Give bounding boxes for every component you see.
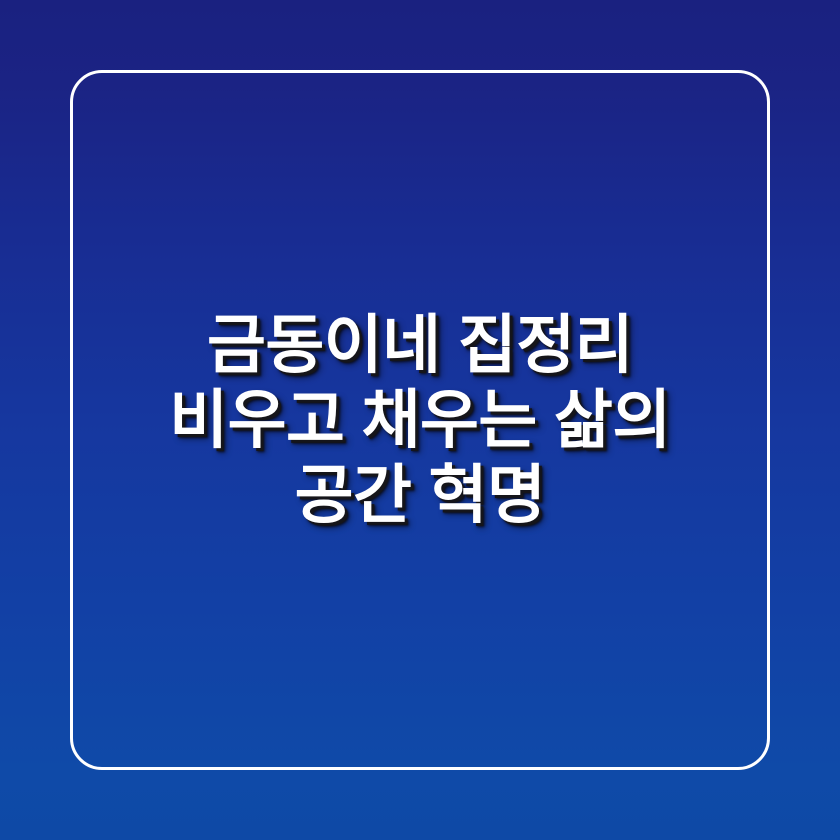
thumbnail-card: 금동이네 집정리 비우고 채우는 삶의 공간 혁명 <box>0 0 840 840</box>
title-line-2: 비우고 채우는 삶의 <box>169 383 671 458</box>
title-line-1: 금동이네 집정리 <box>207 308 633 383</box>
title-line-3: 공간 혁명 <box>295 458 546 533</box>
card-title-block: 금동이네 집정리 비우고 채우는 삶의 공간 혁명 <box>0 0 840 840</box>
